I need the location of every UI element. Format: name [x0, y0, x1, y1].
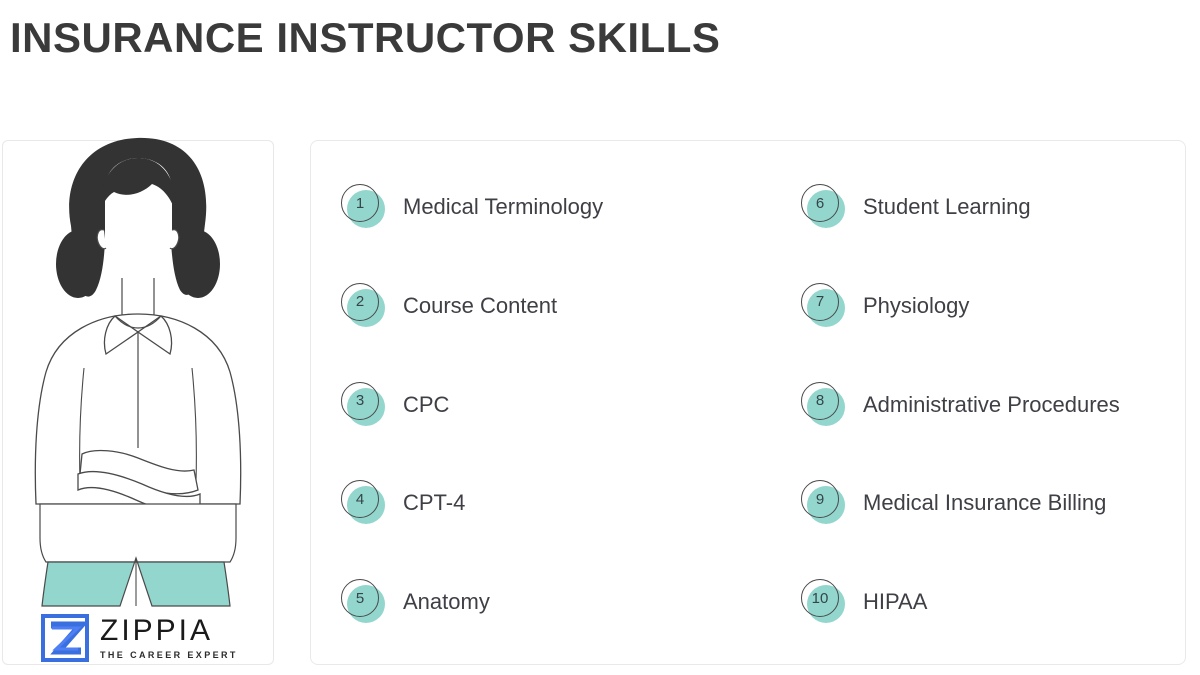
rank-badge: 8 [801, 382, 847, 428]
skill-item[interactable]: 2 Course Content [341, 278, 748, 334]
skill-label: CPT-4 [403, 490, 465, 516]
rank-badge: 6 [801, 184, 847, 230]
badge-number: 4 [341, 480, 379, 518]
skill-label: Medical Insurance Billing [863, 490, 1106, 516]
badge-number: 3 [341, 382, 379, 420]
skill-label: Medical Terminology [403, 194, 603, 220]
rank-badge: 4 [341, 480, 387, 526]
badge-number: 8 [801, 382, 839, 420]
badge-number: 5 [341, 579, 379, 617]
skills-column-right: 6 Student Learning 7 Physiology 8 Adm [748, 179, 1185, 630]
rank-badge: 5 [341, 579, 387, 625]
rank-badge: 7 [801, 283, 847, 329]
badge-number: 7 [801, 283, 839, 321]
badge-number: 2 [341, 283, 379, 321]
skill-item[interactable]: 8 Administrative Procedures [801, 377, 1185, 433]
zippia-logo: ZIPPIA THE CAREER EXPERT [40, 612, 240, 664]
skill-item[interactable]: 5 Anatomy [341, 574, 748, 630]
badge-number: 6 [801, 184, 839, 222]
skill-item[interactable]: 6 Student Learning [801, 179, 1185, 235]
skill-label: Anatomy [403, 589, 490, 615]
skill-label: HIPAA [863, 589, 927, 615]
skill-label: Course Content [403, 293, 557, 319]
badge-number: 9 [801, 480, 839, 518]
zippia-z-mark [40, 613, 90, 663]
illustration-card [2, 140, 274, 665]
skill-label: Physiology [863, 293, 969, 319]
skill-item[interactable]: 3 CPC [341, 377, 748, 433]
badge-number: 1 [341, 184, 379, 222]
skills-grid: 1 Medical Terminology 2 Course Content 3 [311, 141, 1185, 664]
rank-badge: 3 [341, 382, 387, 428]
rank-badge: 10 [801, 579, 847, 625]
zippia-tagline: THE CAREER EXPERT [100, 651, 238, 660]
skill-label: Student Learning [863, 194, 1031, 220]
skill-item[interactable]: 10 HIPAA [801, 574, 1185, 630]
skills-card: 1 Medical Terminology 2 Course Content 3 [310, 140, 1186, 665]
rank-badge: 1 [341, 184, 387, 230]
skill-item[interactable]: 4 CPT-4 [341, 475, 748, 531]
skill-item[interactable]: 9 Medical Insurance Billing [801, 475, 1185, 531]
skill-item[interactable]: 7 Physiology [801, 278, 1185, 334]
zippia-wordmark: ZIPPIA [100, 616, 238, 646]
skill-label: Administrative Procedures [863, 392, 1120, 418]
skills-column-left: 1 Medical Terminology 2 Course Content 3 [311, 179, 748, 630]
skill-item[interactable]: 1 Medical Terminology [341, 179, 748, 235]
skill-label: CPC [403, 392, 449, 418]
rank-badge: 9 [801, 480, 847, 526]
rank-badge: 2 [341, 283, 387, 329]
page-title: INSURANCE INSTRUCTOR SKILLS [10, 14, 720, 62]
badge-number: 10 [801, 579, 839, 617]
